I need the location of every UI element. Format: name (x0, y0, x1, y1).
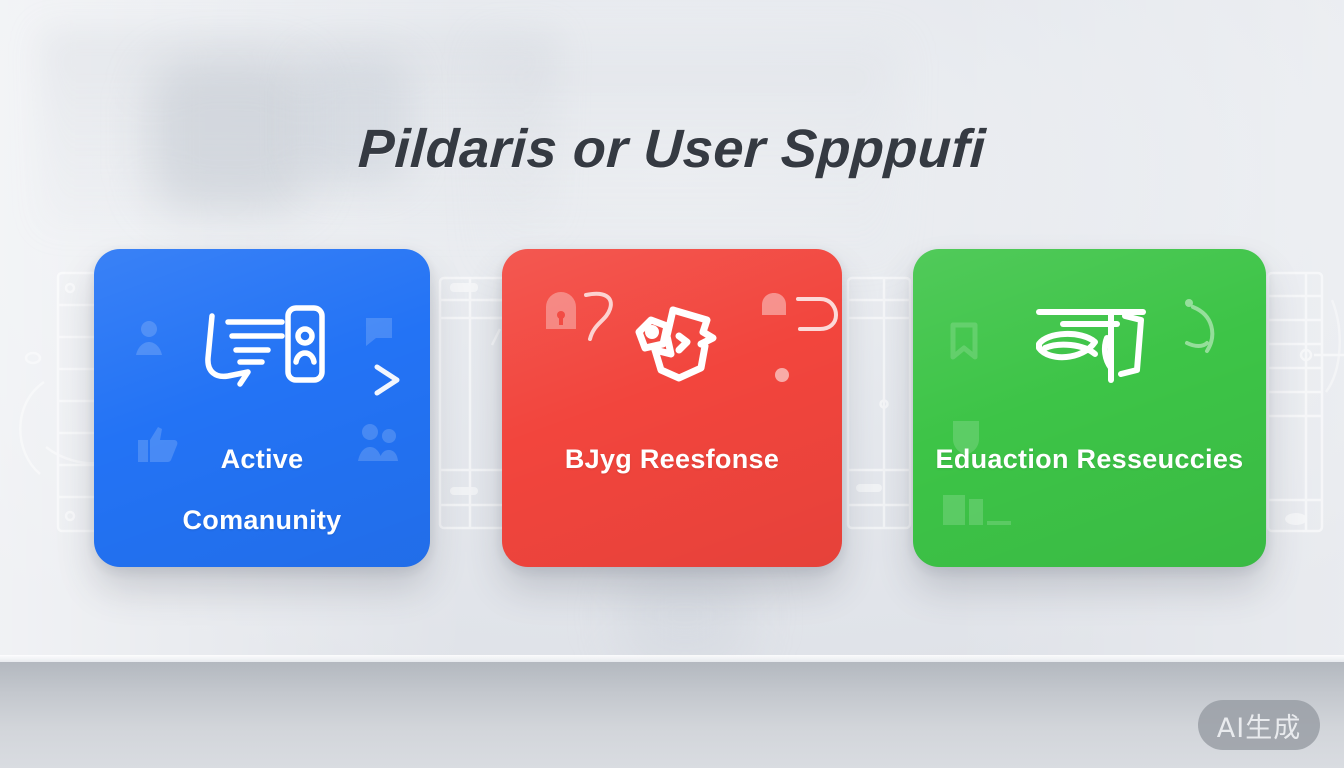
card-label-line1: Eduaction Resseuccies (913, 446, 1266, 473)
desk-surface (0, 662, 1344, 768)
open-book-icon (913, 291, 1266, 401)
background-blur-blob-lower (620, 560, 750, 670)
card-label-line1: Active (94, 446, 430, 473)
card-label-line2: Comanunity (94, 507, 430, 534)
page-title: Pildaris or User Spppufi (0, 118, 1344, 180)
feature-card-active-community[interactable]: Active Comanunity (94, 249, 430, 567)
feature-card-bug-response[interactable]: BJyg Reesfonse (502, 249, 842, 567)
feature-card-education-resources[interactable]: Eduaction Resseuccies (913, 249, 1266, 567)
poster-canvas: Pildaris or User Spppufi (0, 0, 1344, 768)
ghost-document-icon (939, 489, 1015, 533)
ai-generated-watermark: AI生成 (1198, 700, 1320, 750)
chat-bubble-profile-icon (94, 291, 430, 401)
card-label-line1: BJyg Reesfonse (502, 446, 842, 473)
shield-badge-icon (502, 291, 842, 401)
feature-card-row: Active Comanunity (0, 249, 1344, 567)
